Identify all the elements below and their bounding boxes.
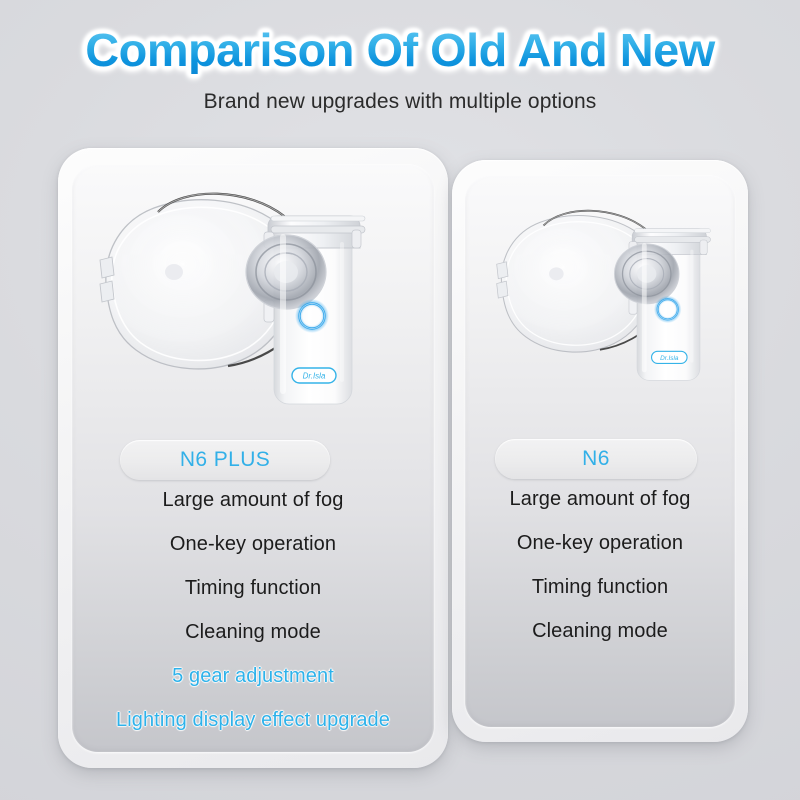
svg-text:Dr.Isla: Dr.Isla <box>303 372 326 381</box>
feature-item: Large amount of fog <box>465 489 735 509</box>
feature-item: Cleaning mode <box>465 621 735 641</box>
svg-text:Dr.Isla: Dr.Isla <box>660 355 679 362</box>
feature-item: Large amount of fog <box>72 490 434 510</box>
feature-item: Timing function <box>72 578 434 598</box>
product-image-n6: Dr.Isla <box>487 185 729 395</box>
model-pill-n6: N6 <box>495 439 697 479</box>
product-card-n6-plus[interactable]: Dr.Isla N6 PLUS Large amount of fog One-… <box>58 148 448 768</box>
model-pill-n6-plus: N6 PLUS <box>120 440 330 480</box>
feature-item: Timing function <box>465 577 735 597</box>
feature-list-n6: Large amount of fog One-key operation Ti… <box>465 489 735 665</box>
comparison-poster: Comparison Of Old And New Brand new upgr… <box>0 0 800 800</box>
feature-item: One-key operation <box>72 534 434 554</box>
card-panel: Dr.Isla N6 Large amount of fog One-key o… <box>465 175 735 727</box>
feature-item: One-key operation <box>465 533 735 553</box>
model-label: N6 PLUS <box>180 448 270 472</box>
feature-item-highlight: Lighting display effect upgrade <box>72 710 434 730</box>
feature-item-highlight: 5 gear adjustment <box>72 666 434 686</box>
feature-list-n6-plus: Large amount of fog One-key operation Ti… <box>72 490 434 752</box>
product-card-list: Dr.Isla N6 PLUS Large amount of fog One-… <box>0 0 800 800</box>
product-card-n6[interactable]: Dr.Isla N6 Large amount of fog One-key o… <box>452 160 748 742</box>
product-image-n6-plus: Dr.Isla <box>88 172 388 412</box>
card-panel: Dr.Isla N6 PLUS Large amount of fog One-… <box>72 164 434 752</box>
feature-item: Cleaning mode <box>72 622 434 642</box>
model-label: N6 <box>582 447 610 471</box>
